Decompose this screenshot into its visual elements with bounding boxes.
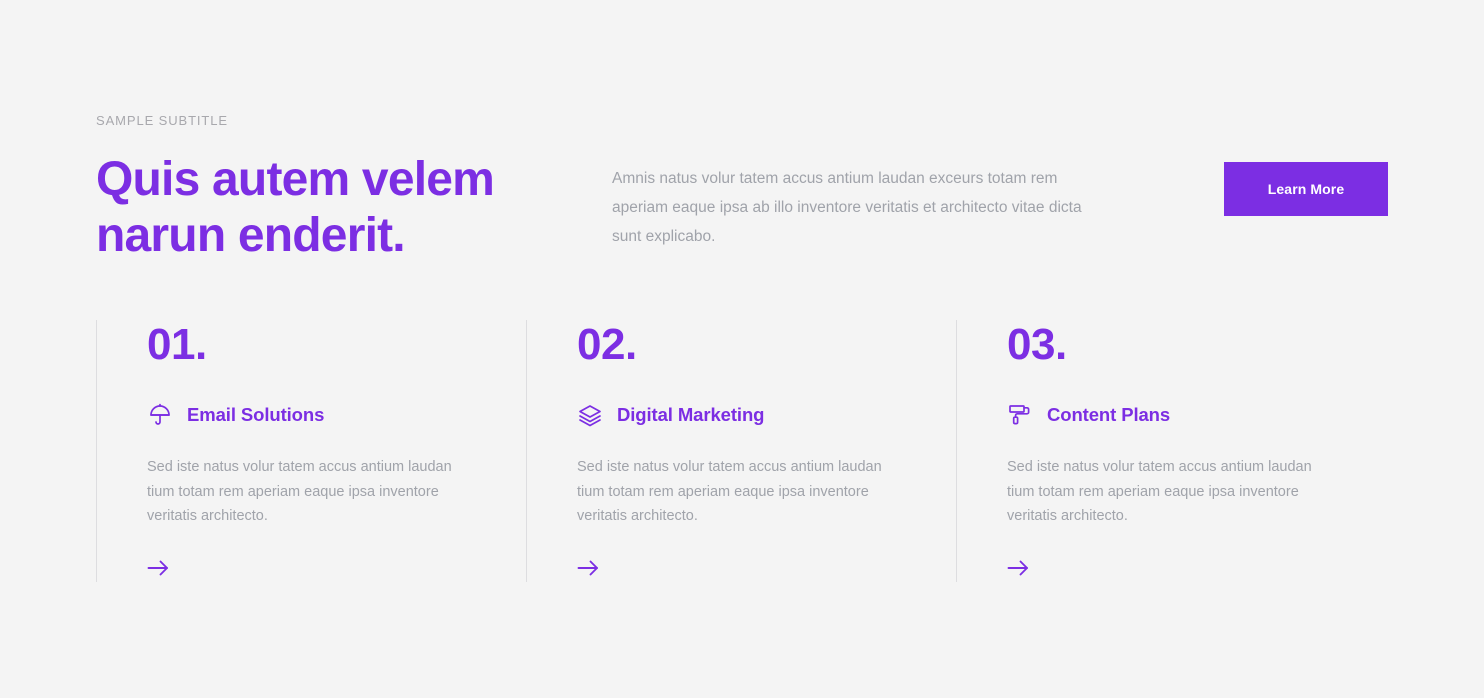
card-title: Content Plans [1047, 404, 1170, 426]
header-description: Amnis natus volur tatem accus antium lau… [612, 152, 1112, 251]
layers-icon [577, 402, 603, 428]
card-header: Email Solutions [147, 402, 496, 428]
card-number: 02. [577, 320, 926, 370]
card-description: Sed iste natus volur tatem accus antium … [1007, 455, 1312, 529]
page-root: SAMPLE SUBTITLE Quis autem velem narun e… [0, 0, 1484, 698]
card-description: Sed iste natus volur tatem accus antium … [577, 455, 882, 529]
card-arrow-link[interactable] [1007, 559, 1031, 579]
card-title: Digital Marketing [617, 404, 764, 426]
card-arrow-link[interactable] [147, 559, 171, 579]
header-row: Quis autem velem narun enderit. Amnis na… [96, 152, 1388, 264]
paint-roller-icon [1007, 402, 1033, 428]
card-arrow-link[interactable] [577, 559, 601, 579]
feature-card: 02. Digital Marketing Sed iste natus vol… [526, 320, 956, 582]
header-section: SAMPLE SUBTITLE Quis autem velem narun e… [96, 112, 1388, 264]
card-number: 01. [147, 320, 496, 370]
section-subtitle: SAMPLE SUBTITLE [96, 112, 1388, 130]
umbrella-icon [147, 402, 173, 428]
feature-card: 01. Email Solutions Sed iste natus volur… [96, 320, 526, 582]
feature-card: 03. Content Plans Sed iste natus volur t… [956, 320, 1386, 582]
page-title: Quis autem velem narun enderit. [96, 152, 612, 264]
card-header: Digital Marketing [577, 402, 926, 428]
card-number: 03. [1007, 320, 1356, 370]
feature-cards-row: 01. Email Solutions Sed iste natus volur… [96, 320, 1388, 582]
arrow-right-icon [577, 559, 601, 577]
card-description: Sed iste natus volur tatem accus antium … [147, 455, 452, 529]
arrow-right-icon [1007, 559, 1031, 577]
arrow-right-icon [147, 559, 171, 577]
card-header: Content Plans [1007, 402, 1356, 428]
learn-more-button[interactable]: Learn More [1224, 162, 1388, 216]
card-title: Email Solutions [187, 404, 324, 426]
cta-container: Learn More [1112, 152, 1388, 216]
